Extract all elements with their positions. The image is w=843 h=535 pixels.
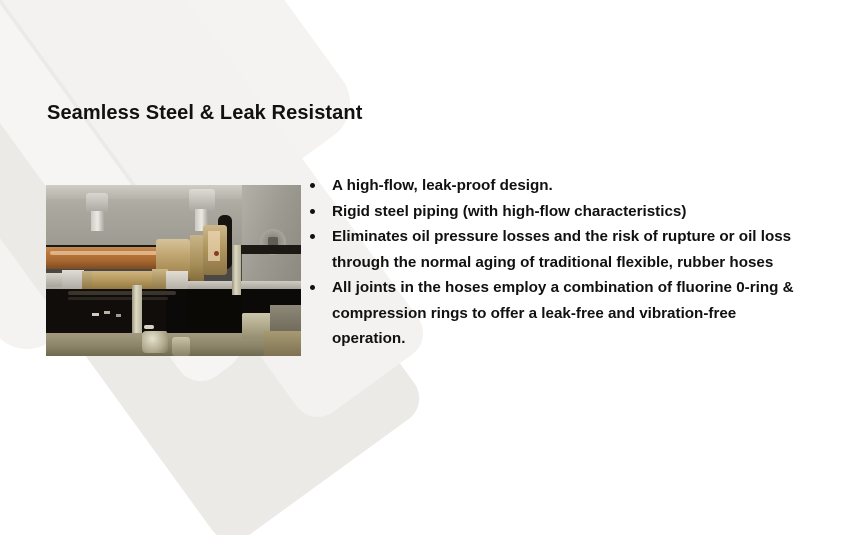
bullet-dot-icon (310, 209, 315, 214)
bullet-text: Rigid steel piping (with high-flow chara… (332, 203, 686, 220)
photo-ridge-one (68, 291, 176, 295)
bullet-dot-icon (310, 183, 315, 188)
feature-bullet-list: A high-flow, leak-proof design. Rigid st… (307, 173, 807, 352)
bullet-text: Eliminates oil pressure losses and the r… (332, 228, 791, 271)
bullet-dot-icon (310, 285, 315, 290)
photo-ridge-two (68, 297, 168, 300)
photo-brass-collar (190, 235, 204, 285)
photo-glint-two (104, 311, 110, 314)
photo-glint-one (92, 313, 99, 316)
photo-base-bolt-two (172, 337, 190, 356)
photo-fitting-top-left-stem (91, 211, 104, 231)
bullet-text: A high-flow, leak-proof design. (332, 177, 553, 194)
piping-photograph (46, 185, 301, 356)
photo-mid-fitting-d (166, 271, 188, 290)
photo-red-marker-dot (214, 251, 219, 256)
photo-lower-cavity-right (186, 289, 242, 329)
photo-glint-four (144, 325, 154, 329)
photograph-content (46, 185, 301, 356)
list-item: All joints in the hoses employ a combina… (307, 275, 807, 352)
list-item: Eliminates oil pressure losses and the r… (307, 224, 807, 275)
list-item: Rigid steel piping (with high-flow chara… (307, 199, 807, 225)
slide-title: Seamless Steel & Leak Resistant (47, 102, 362, 125)
list-item: A high-flow, leak-proof design. (307, 173, 807, 199)
photo-base-bolt-one (142, 331, 168, 353)
photo-mid-brass-body (92, 271, 154, 290)
bullet-dot-icon (310, 234, 315, 239)
photo-glint-three (116, 314, 121, 317)
bullet-text: All joints in the hoses employ a combina… (332, 279, 794, 347)
photo-vertical-tube-right (232, 245, 241, 295)
photo-mid-fitting-a (62, 270, 84, 291)
slide: Seamless Steel & Leak Resistant (0, 0, 843, 535)
photo-brass-hex-highlight (208, 231, 220, 261)
photo-base-block-three (264, 331, 301, 356)
